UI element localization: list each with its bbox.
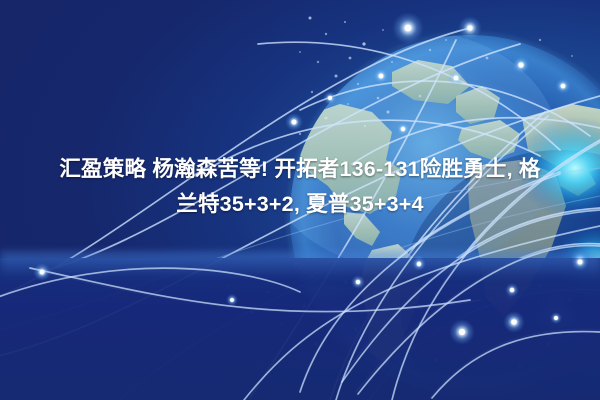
banner-image: 汇盈策略 杨瀚森苦等! 开拓者136-131险胜勇士, 格 兰特35+3+2, … <box>0 0 600 400</box>
page-title: 汇盈策略 杨瀚森苦等! 开拓者136-131险胜勇士, 格 兰特35+3+2, … <box>0 152 600 222</box>
headline-line-1: 汇盈策略 杨瀚森苦等! 开拓者136-131险胜勇士, 格 <box>59 157 540 181</box>
headline-line-2: 兰特35+3+2, 夏普35+3+4 <box>4 187 596 222</box>
